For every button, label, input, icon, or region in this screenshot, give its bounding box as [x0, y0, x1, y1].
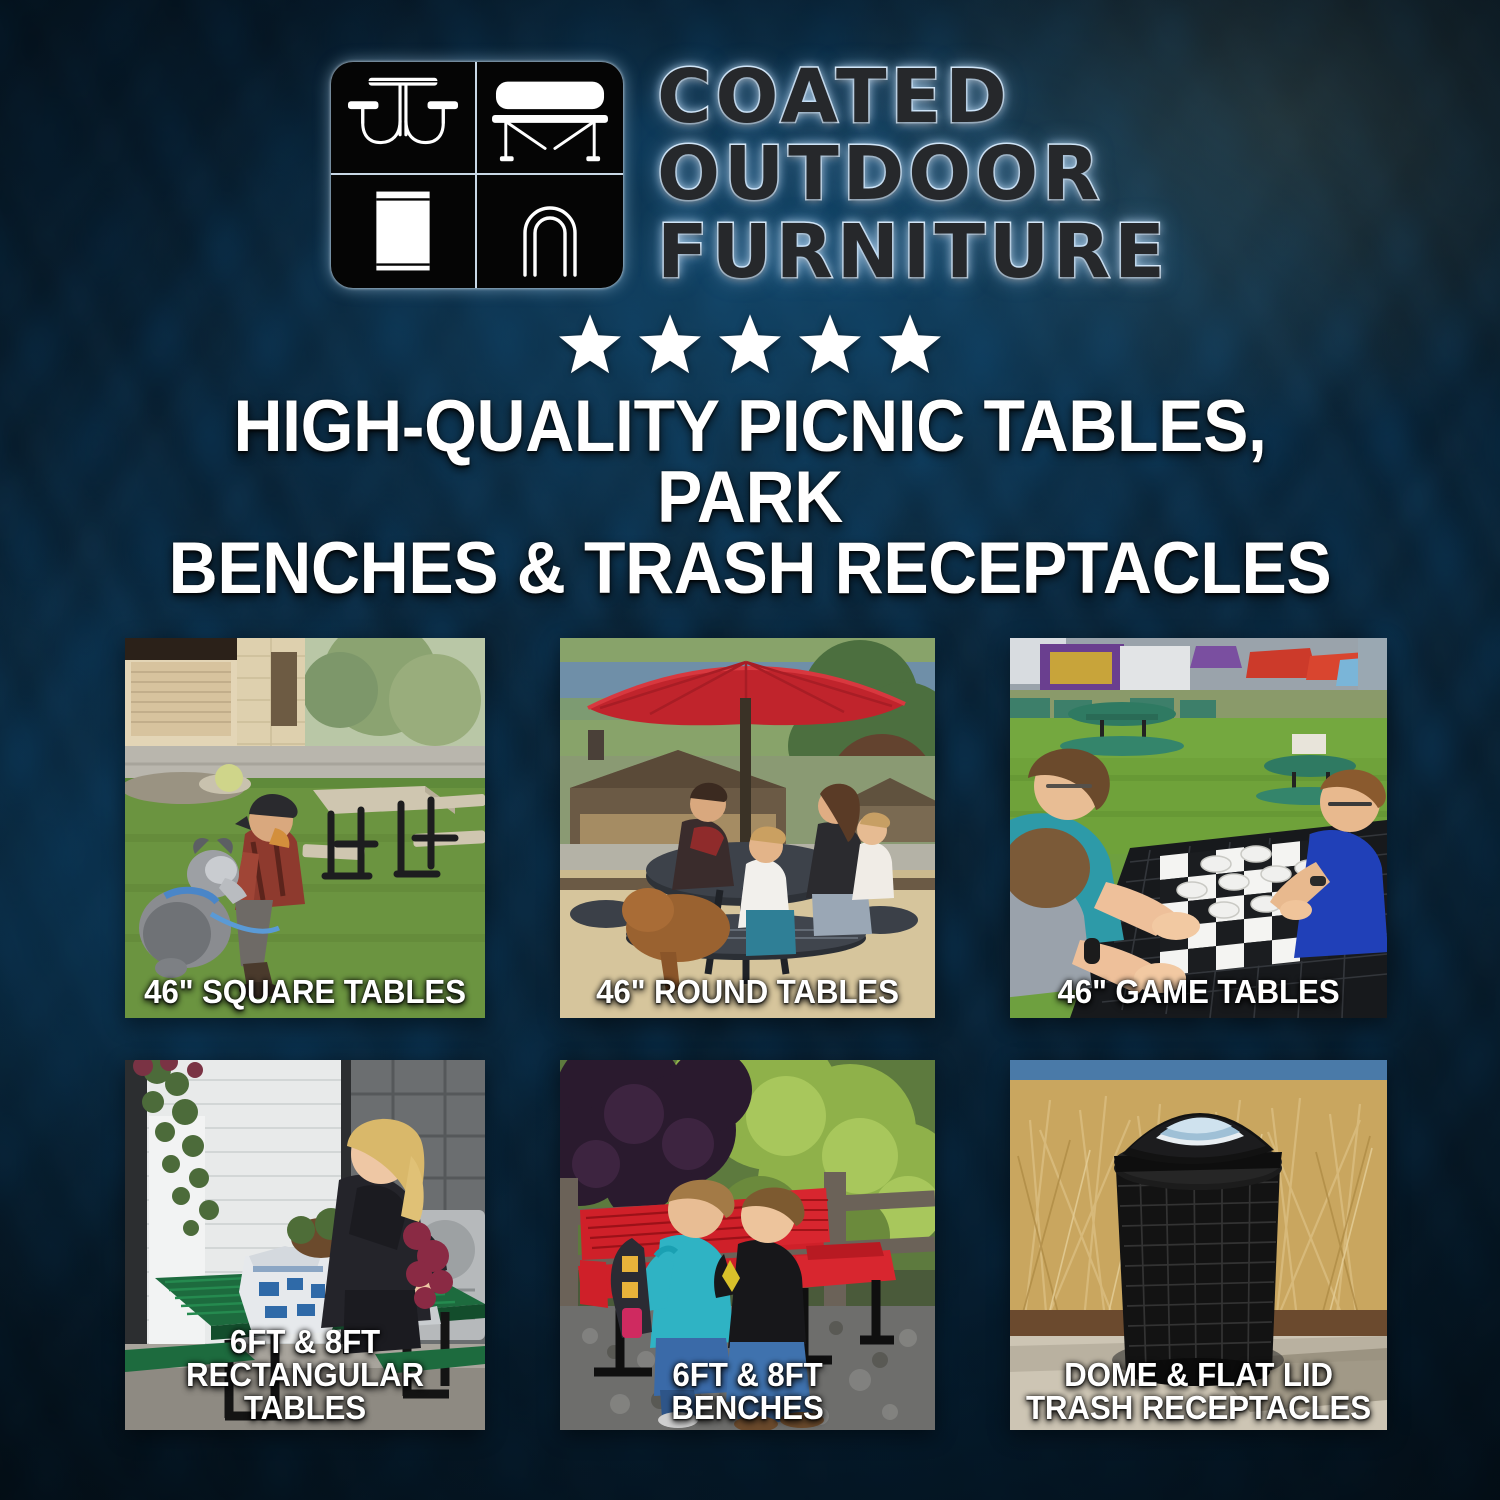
product-caption-rectangular-tables: 6FT & 8FT RECTANGULAR TABLES	[134, 1325, 476, 1424]
brand-logo-mark	[331, 62, 623, 288]
product-caption-trash-receptacles: DOME & FLAT LID TRASH RECEPTACLES	[1019, 1358, 1377, 1424]
headline-line-1: HIGH-QUALITY PICNIC TABLES, PARK	[132, 392, 1369, 534]
product-caption-game-tables: 46" GAME TABLES	[1019, 975, 1377, 1008]
caption-line-1: 46" ROUND TABLES	[575, 975, 920, 1008]
product-caption-square-tables: 46" SQUARE TABLES	[134, 975, 476, 1008]
caption-line-2: BENCHES	[575, 1391, 920, 1424]
product-tile-game-tables[interactable]: 46" GAME TABLES	[1010, 638, 1387, 1018]
product-tile-square-tables[interactable]: 46" SQUARE TABLES	[125, 638, 485, 1018]
headline-line-2: BENCHES & TRASH RECEPTACLES	[132, 534, 1369, 605]
star-icon	[639, 314, 701, 374]
product-tile-rectangular-tables[interactable]: 6FT & 8FT RECTANGULAR TABLES	[125, 1060, 485, 1430]
product-tile-benches[interactable]: 6FT & 8FT BENCHES	[560, 1060, 935, 1430]
brand-wordmark: COATED OUTDOOR FURNITURE	[657, 62, 1169, 287]
star-icon	[719, 314, 781, 374]
caption-line-1: DOME & FLAT LID	[1025, 1358, 1372, 1391]
caption-line-2: RECTANGULAR TABLES	[140, 1358, 471, 1424]
star-rating	[0, 314, 1500, 374]
product-caption-round-tables: 46" ROUND TABLES	[569, 975, 925, 1008]
star-icon	[799, 314, 861, 374]
poster-canvas: COATED OUTDOOR FURNITURE HIGH-QUALITY PI…	[0, 0, 1500, 1500]
star-icon	[879, 314, 941, 374]
wordmark-line-1: COATED	[657, 62, 1011, 133]
star-icon	[559, 314, 621, 374]
page-title: HIGH-QUALITY PICNIC TABLES, PARK BENCHES…	[132, 392, 1369, 604]
caption-line-1: 46" GAME TABLES	[1025, 975, 1372, 1008]
bike-rack-icon	[477, 175, 623, 288]
trash-receptacle-icon	[331, 175, 477, 288]
product-photo-square-tables	[125, 638, 485, 1018]
park-bench-icon	[477, 62, 623, 175]
brand-lockup: COATED OUTDOOR FURNITURE	[0, 62, 1500, 288]
caption-line-1: 6FT & 8FT	[575, 1358, 920, 1391]
caption-line-1: 46" SQUARE TABLES	[140, 975, 471, 1008]
product-photo-round-tables	[560, 638, 935, 1018]
product-tile-round-tables[interactable]: 46" ROUND TABLES	[560, 638, 935, 1018]
product-grid: 46" SQUARE TABLES	[125, 638, 1377, 1430]
picnic-table-icon	[331, 62, 477, 175]
caption-line-2: TRASH RECEPTACLES	[1025, 1391, 1372, 1424]
product-photo-game-tables	[1010, 638, 1387, 1018]
wordmark-line-2: OUTDOOR	[657, 139, 1103, 210]
wordmark-line-3: FURNITURE	[657, 217, 1169, 288]
poster-header: COATED OUTDOOR FURNITURE HIGH-QUALITY PI…	[0, 62, 1500, 604]
product-caption-benches: 6FT & 8FT BENCHES	[569, 1358, 925, 1424]
product-tile-trash-receptacles[interactable]: DOME & FLAT LID TRASH RECEPTACLES	[1010, 1060, 1387, 1430]
caption-line-1: 6FT & 8FT	[140, 1325, 471, 1358]
